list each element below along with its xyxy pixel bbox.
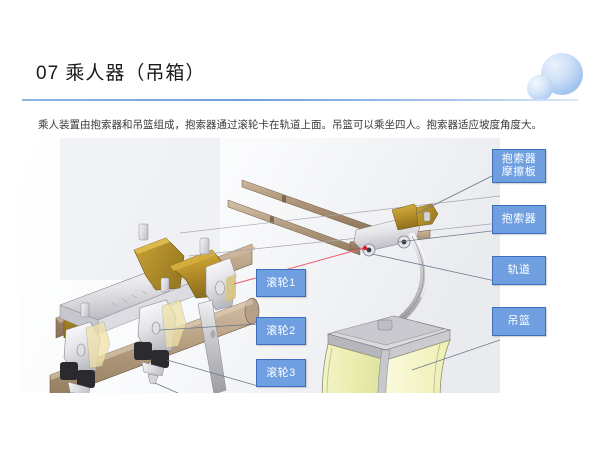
black-roller bbox=[134, 342, 152, 360]
label-guidao-text: 轨道 bbox=[508, 264, 531, 277]
label-baosuoqi-moucaban-line2: 摩擦板 bbox=[502, 166, 537, 179]
assembly-illustration bbox=[20, 138, 500, 393]
black-roller bbox=[60, 362, 78, 380]
label-gunlun1-text: 滚轮1 bbox=[266, 277, 296, 290]
label-gunlun3[interactable]: 滚轮3 bbox=[256, 359, 306, 387]
label-gunlun2[interactable]: 滚轮2 bbox=[256, 317, 306, 345]
label-gunlun2-text: 滚轮2 bbox=[266, 325, 296, 338]
decorative-circle-small bbox=[527, 75, 553, 101]
title-divider bbox=[22, 99, 578, 101]
label-baosuoqi-moucaban-line1: 抱索器 bbox=[502, 153, 537, 166]
label-gunlun1[interactable]: 滚轮1 bbox=[256, 269, 306, 297]
label-gunlun3-text: 滚轮3 bbox=[266, 367, 296, 380]
label-diaolan[interactable]: 吊篮 bbox=[492, 307, 546, 336]
page-title: 07 乘人器（吊箱） bbox=[36, 58, 205, 85]
label-guidao[interactable]: 轨道 bbox=[492, 256, 546, 285]
label-baosuoqi-text: 抱索器 bbox=[502, 213, 537, 226]
label-baosuoqi-moucaban[interactable]: 抱索器 摩擦板 bbox=[492, 149, 546, 183]
label-baosuoqi[interactable]: 抱索器 bbox=[492, 205, 546, 234]
slide-subtitle: 乘人装置由抱索器和吊篮组成，抱索器通过滚轮卡在轨道上面。吊篮可以乘坐四人。抱索器… bbox=[38, 117, 578, 132]
label-diaolan-text: 吊篮 bbox=[508, 315, 531, 328]
slide-root: 07 乘人器（吊箱） 乘人装置由抱索器和吊篮组成，抱索器通过滚轮卡在轨道上面。吊… bbox=[0, 0, 600, 450]
